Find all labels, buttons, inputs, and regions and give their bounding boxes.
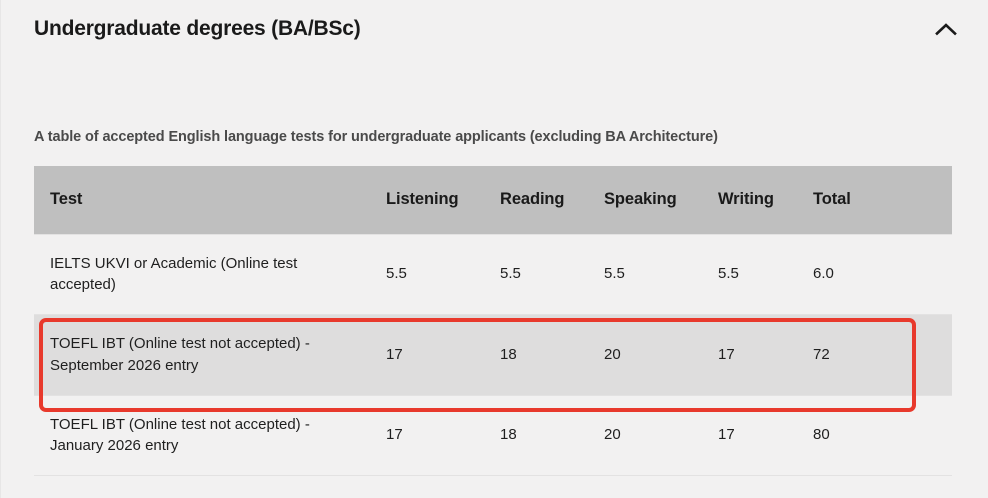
cell-listening: 5.5 <box>386 234 500 315</box>
table-row: IELTS UKVI or Academic (Online test acce… <box>34 234 952 315</box>
cell-speaking: 5.5 <box>604 234 718 315</box>
cell-total: 80 <box>813 395 952 476</box>
column-header-reading: Reading <box>500 166 604 234</box>
page-root: Undergraduate degrees (BA/BSc) A table o… <box>0 0 988 498</box>
column-header-total: Total <box>813 166 952 234</box>
cell-reading: 5.5 <box>500 234 604 315</box>
column-header-writing: Writing <box>718 166 813 234</box>
table-caption: A table of accepted English language tes… <box>34 129 718 145</box>
english-language-tests-table: Test Listening Reading Speaking Writing … <box>34 166 952 476</box>
cell-test: IELTS UKVI or Academic (Online test acce… <box>34 234 386 315</box>
column-header-speaking: Speaking <box>604 166 718 234</box>
chevron-up-icon[interactable] <box>929 12 963 46</box>
cell-writing: 17 <box>718 395 813 476</box>
table-header-row: Test Listening Reading Speaking Writing … <box>34 166 952 234</box>
table-header: Test Listening Reading Speaking Writing … <box>34 166 952 234</box>
column-header-test: Test <box>34 166 386 234</box>
cell-test: TOEFL IBT (Online test not accepted) - J… <box>34 395 386 476</box>
cell-reading: 18 <box>500 395 604 476</box>
chevron-up-icon-glyph <box>935 22 957 36</box>
cell-writing: 17 <box>718 315 813 396</box>
cell-total: 72 <box>813 315 952 396</box>
column-header-listening: Listening <box>386 166 500 234</box>
cell-speaking: 20 <box>604 395 718 476</box>
cell-total: 6.0 <box>813 234 952 315</box>
accordion-header-undergraduate-degrees[interactable]: Undergraduate degrees (BA/BSc) <box>1 0 988 58</box>
table-row-highlighted: TOEFL IBT (Online test not accepted) - S… <box>34 315 952 396</box>
cell-listening: 17 <box>386 315 500 396</box>
cell-test: TOEFL IBT (Online test not accepted) - S… <box>34 315 386 396</box>
cell-writing: 5.5 <box>718 234 813 315</box>
cell-listening: 17 <box>386 395 500 476</box>
table-container: Test Listening Reading Speaking Writing … <box>34 166 952 476</box>
table-row: TOEFL IBT (Online test not accepted) - J… <box>34 395 952 476</box>
table-body: IELTS UKVI or Academic (Online test acce… <box>34 234 952 476</box>
cell-reading: 18 <box>500 315 604 396</box>
cell-speaking: 20 <box>604 315 718 396</box>
page-title: Undergraduate degrees (BA/BSc) <box>34 16 361 41</box>
